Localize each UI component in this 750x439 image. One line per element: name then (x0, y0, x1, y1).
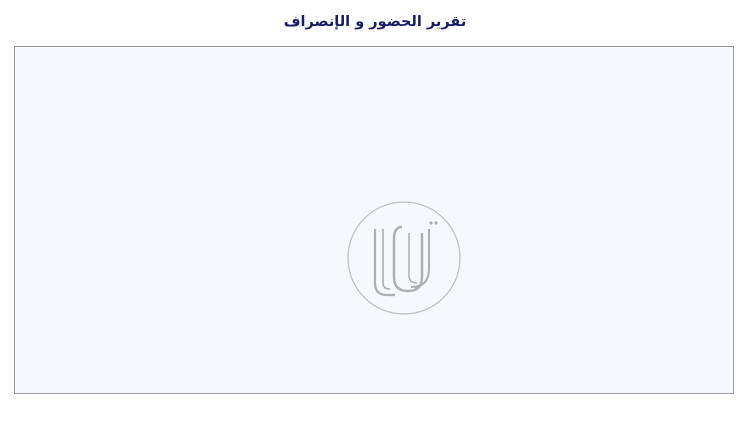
circular-arabic-calligraphy-logo-icon (345, 199, 463, 317)
page-title: تقرير الحضور و الإنصراف (0, 14, 750, 30)
reports-menu-panel: قائمة الموظفينقائمة الموظفين المعينين خل… (14, 46, 734, 394)
